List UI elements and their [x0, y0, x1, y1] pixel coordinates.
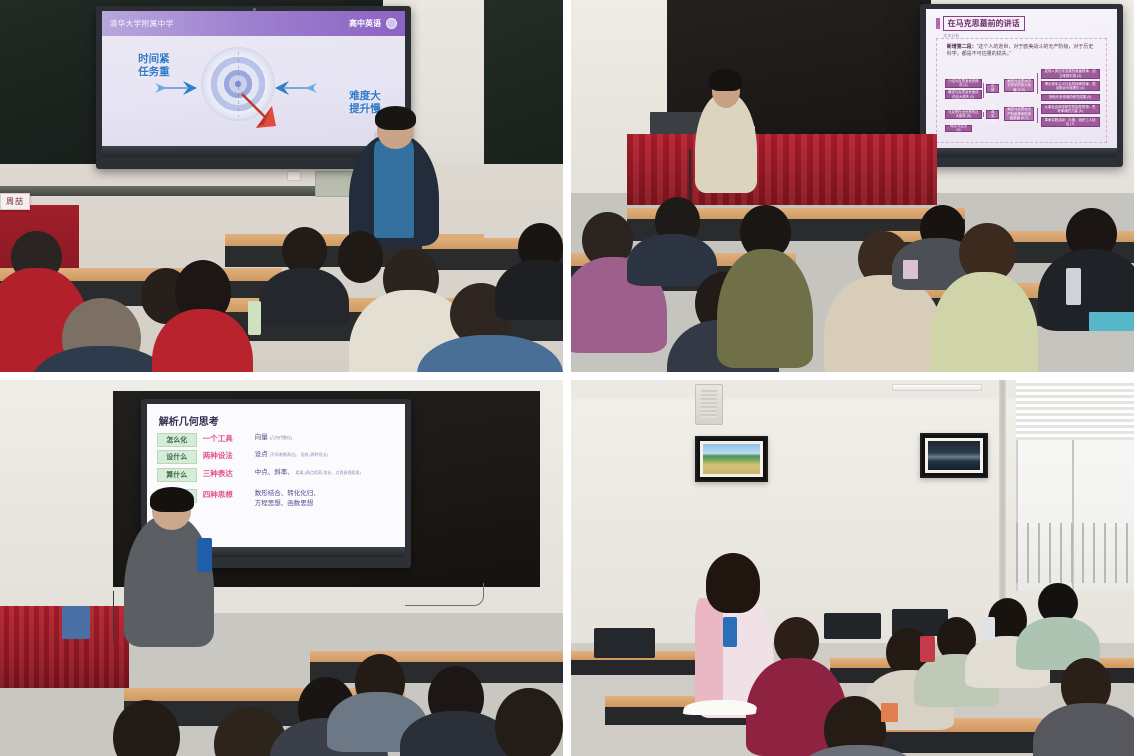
row-detail: 设点 (不同参数表达)、设线 (两种设法) [255, 450, 328, 460]
school-seal-icon [386, 18, 397, 29]
presenter-hair [150, 487, 194, 511]
safety-railing [1016, 523, 1134, 583]
photo-panel-bottom-right [571, 380, 1134, 756]
picture-mat [925, 438, 983, 473]
row-detail: 中点、斜率、 距离 (两点距离-弦长、点到直线距离) [255, 468, 361, 478]
paragraph-label: 新增第二段： [947, 44, 977, 50]
diagram-node: 悼念马克思 (9) [945, 125, 972, 132]
bottle-on-desk [982, 617, 996, 640]
diagram-node: 介绍马克思逝世的情况 (1) [945, 79, 982, 88]
night-cityscape-painting [928, 441, 980, 470]
row-detail: 向量 (几何代数化) [255, 433, 292, 443]
draped-presenter-table [627, 134, 937, 205]
row-chip: 怎么化 [157, 433, 197, 447]
school-name-logo: 清华大学附属中学 [110, 18, 174, 29]
slide-title: 在马克思墓前的讲话 [943, 16, 1025, 31]
smartboard-display: 清华大学附属中学 高中英语 时间紧 任务重 难度大 提升慢 [96, 6, 411, 170]
slide-title: 解析几何思考 [159, 413, 397, 428]
fluorescent-light [892, 384, 982, 392]
window-blind [1016, 380, 1134, 440]
row-chip: 算什么 [157, 468, 197, 482]
picture-mat [700, 441, 763, 476]
collage-gutter-horizontal [0, 372, 1134, 380]
handheld-microphone [723, 617, 737, 647]
audience-body [259, 268, 349, 328]
presenter-hair [706, 553, 759, 613]
diagram-connector [983, 112, 984, 116]
row-chip: 设什么 [157, 450, 197, 464]
presentation-slide: 清华大学附属中学 高中英语 时间紧 任务重 难度大 提升慢 [102, 11, 405, 158]
photo-collage: 周喆 清华大学附属中学 高中英语 时间紧 任务重 难度 [0, 0, 1134, 756]
slide-structure-diagram: 介绍马克思逝世的情况 (1) 阐述马克思逝世造成的巨大损失 (2) 马克思在全世… [943, 68, 1102, 135]
diagram-node: 革命实践 [986, 110, 999, 119]
diagram-connector [983, 83, 984, 98]
notebook [1089, 312, 1134, 331]
thermos-bottle [1066, 268, 1081, 305]
nameplate-placard: 周喆 [0, 193, 30, 210]
cup [903, 260, 918, 279]
slide-header-bar: 清华大学附属中学 高中英语 [102, 11, 405, 36]
slide-row: 设什么 两种设法 设点 (不同参数表达)、设线 (两种设法) [157, 450, 397, 464]
framed-picture [695, 436, 768, 481]
hanging-cable [405, 583, 484, 606]
diagram-node: 理论研究 [986, 84, 999, 93]
blackboard-right-section [484, 0, 563, 186]
wall-speaker-icon [695, 384, 723, 425]
collage-gutter-vertical [563, 380, 571, 756]
presenter-body [124, 515, 214, 647]
diagram-connector [1037, 73, 1038, 93]
slide-label-time-pressure: 时间紧 任务重 [138, 53, 170, 79]
water-bottle [248, 301, 262, 334]
arrow-blue-right-icon [275, 79, 319, 97]
photo-panel-bottom-left: 解析几何思考 怎么化 一个工具 向量 (几何代数化) 设什么 两种设法 设点 (… [0, 380, 563, 756]
audience-head [338, 231, 383, 283]
presentation-slide: 在马克思墓前的讲话 文本分析 新增第二段：“这个人的逝世，对于欧美战斗的无产阶级… [926, 9, 1117, 158]
presenter-body [695, 93, 757, 193]
landscape-painting [703, 444, 760, 473]
slide-row: 怎么化 一个工具 向量 (几何代数化) [157, 433, 397, 447]
diagram-node: 阐述马克思逝世造成的巨大损失 (2) [945, 90, 982, 99]
row-middle-label: 四种思想 [203, 489, 249, 500]
slide-content-area: 新增第二段：“这个人的逝世，对于欧美战斗的无产阶级，对于历史科学，都是不可估量的… [936, 38, 1108, 142]
audience-head [495, 688, 563, 756]
diagram-node: 揭示资本主义社会的特殊规律，提出剩余价值理论 (4) [1041, 81, 1100, 90]
presenter-jacket-accent [695, 598, 723, 711]
diagram-node: 阐述马克思对历史科学的伟大贡献 (3-5) [1004, 79, 1034, 91]
thermos-on-desk [920, 636, 935, 662]
wall-socket [287, 171, 301, 181]
diagram-node: 阐述马克思对无产阶级革命的卓越贡献 (6-7) [1004, 107, 1034, 120]
row-detail: 数形结合、转化化归、方程思想、函数思想 [255, 489, 320, 509]
cup-on-desk [881, 703, 898, 722]
slide-row: 算什么 三种表达 中点、斜率、 距离 (两点距离-弦长、点到直线距离) [157, 468, 397, 482]
row-middle-label: 三种表达 [203, 468, 249, 479]
diagram-node: 发现人类历史发展的普遍规律，创立唯物史观 (3) [1041, 69, 1100, 78]
photo-panel-top-left: 周喆 清华大学附属中学 高中英语 时间紧 任务重 难度 [0, 0, 563, 372]
photo-panel-top-right: 在马克思墓前的讲话 文本分析 新增第二段：“这个人的逝世，对于欧美战斗的无产阶级… [571, 0, 1134, 372]
slide-subject-label: 高中英语 [349, 18, 381, 29]
slide-body: 时间紧 任务重 难度大 提升慢 [102, 36, 405, 158]
participant-body [1033, 703, 1134, 756]
chair-back [594, 628, 656, 658]
handheld-microphone [197, 538, 212, 572]
projection-display: 在马克思墓前的讲话 文本分析 新增第二段：“这个人的逝世，对于欧美战斗的无产阶级… [920, 4, 1123, 168]
diagram-node: 革命实践活动：办报、组织工人协会 (7) [1041, 117, 1100, 127]
diagram-connector [1037, 108, 1038, 123]
slide-header-right: 高中英语 [349, 18, 397, 29]
presenter-shirt [374, 141, 413, 238]
diagram-node: 马克思在全世界的巨大影响 (8) [945, 110, 982, 119]
title-marker-icon [936, 18, 940, 29]
audience-body [717, 249, 813, 368]
chair-back [824, 613, 880, 639]
collage-gutter-vertical [563, 0, 571, 372]
slide-title-group: 在马克思墓前的讲话 [936, 16, 1025, 31]
chair [62, 606, 90, 640]
presenter-hair [375, 106, 416, 130]
presenter-hair [709, 69, 742, 91]
papers-on-desk [682, 700, 758, 715]
classroom-desk-row [310, 651, 563, 662]
row-middle-label: 一个工具 [203, 433, 249, 444]
row-middle-label: 两种设法 [203, 450, 249, 461]
slide-paragraph: 新增第二段：“这个人的逝世，对于欧美战斗的无产阶级，对于历史科学，都是不可估量的… [947, 44, 1096, 59]
arrow-blue-left-icon [153, 79, 197, 97]
diagram-node: 其他众多领域的研究成果 (5) [1041, 94, 1100, 101]
framed-picture [920, 433, 988, 478]
arrow-red-icon [238, 90, 280, 132]
microphone-stand [113, 591, 115, 644]
display-bezel-bottom [926, 148, 1117, 157]
diagram-node: 从事社会科学研究的指导思想：思考革命的力量 (6) [1041, 104, 1100, 114]
